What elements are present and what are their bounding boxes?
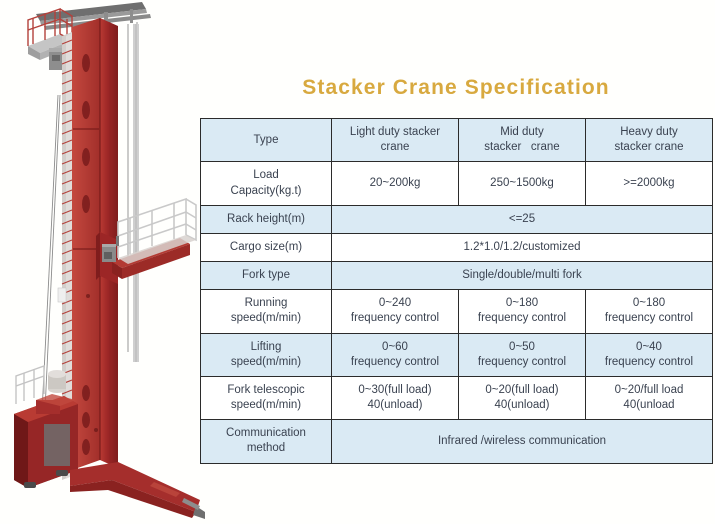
cell-line-1: 0~20/full load	[589, 383, 709, 398]
cell-lifting-speed-mid: 0~50 frequency control	[459, 333, 586, 376]
cell-load-capacity-light: 20~200kg	[332, 162, 459, 205]
cell-rack-height-value: <=25	[332, 205, 713, 233]
table-row-fork-telescopic-speed: Fork telescopic speed(m/min) 0~30(full l…	[201, 376, 713, 419]
cell-line-1: 0~20(full load)	[462, 383, 582, 398]
specification-table-container: Type Light duty stacker crane Mid duty s…	[200, 118, 712, 464]
table-row-header: Type Light duty stacker crane Mid duty s…	[201, 119, 713, 162]
cell-line-2: crane	[335, 140, 455, 155]
cell-line-1: Running	[204, 296, 328, 311]
cell-line-2: stacker crane	[462, 140, 582, 155]
cell-line-1: 0~180	[462, 296, 582, 311]
cell-rack-height-label: Rack height(m)	[201, 205, 332, 233]
cell-line-1: Communication	[204, 426, 328, 441]
cell-line-2: frequency control	[589, 355, 709, 370]
cell-fork-type-label: Fork type	[201, 262, 332, 290]
table-row-cargo-size: Cargo size(m) 1.2*1.0/1.2/customized	[201, 233, 713, 261]
cell-line-1: 0~30(full load)	[335, 383, 455, 398]
cell-line-1: 0~180	[589, 296, 709, 311]
cell-heavy-duty-header: Heavy duty stacker crane	[586, 119, 713, 162]
cell-communication-value: Infrared /wireless communication	[332, 420, 713, 463]
table-row-rack-height: Rack height(m) <=25	[201, 205, 713, 233]
cell-fork-telescopic-label: Fork telescopic speed(m/min)	[201, 376, 332, 419]
cell-line-2: speed(m/min)	[204, 398, 328, 413]
cell-line-2: 40(unload)	[462, 398, 582, 413]
cell-running-speed-heavy: 0~180 frequency control	[586, 290, 713, 333]
cell-line-2: Capacity(kg.t)	[204, 184, 328, 199]
cell-line-2: frequency control	[335, 355, 455, 370]
cell-line-1: 0~240	[335, 296, 455, 311]
cell-line-2: method	[204, 441, 328, 456]
cell-running-speed-label: Running speed(m/min)	[201, 290, 332, 333]
cell-lifting-speed-heavy: 0~40 frequency control	[586, 333, 713, 376]
cell-load-capacity-heavy: >=2000kg	[586, 162, 713, 205]
cell-line-2: speed(m/min)	[204, 355, 328, 370]
cell-fork-type-value: Single/double/multi fork	[332, 262, 713, 290]
cell-line-1: Fork telescopic	[204, 383, 328, 398]
cell-line-1: 0~40	[589, 340, 709, 355]
page-title: Stacker Crane Specification	[200, 76, 712, 100]
cell-lifting-speed-label: Lifting speed(m/min)	[201, 333, 332, 376]
cell-fork-telescopic-heavy: 0~20/full load 40(unload	[586, 376, 713, 419]
cell-cargo-size-value: 1.2*1.0/1.2/customized	[332, 233, 713, 261]
cell-lifting-speed-light: 0~60 frequency control	[332, 333, 459, 376]
cell-line-1: Heavy duty	[589, 125, 709, 140]
cell-load-capacity-label: Load Capacity(kg.t)	[201, 162, 332, 205]
specification-table: Type Light duty stacker crane Mid duty s…	[200, 118, 713, 464]
cell-line-1: 0~50	[462, 340, 582, 355]
cell-line-1: Mid duty	[462, 125, 582, 140]
specification-table-body: Type Light duty stacker crane Mid duty s…	[201, 119, 713, 464]
cell-line-2: 40(unload)	[335, 398, 455, 413]
cell-running-speed-light: 0~240 frequency control	[332, 290, 459, 333]
cell-line-1: Light duty stacker	[335, 125, 455, 140]
cell-line-2: speed(m/min)	[204, 311, 328, 326]
cell-line-1: Load	[204, 168, 328, 183]
table-row-fork-type: Fork type Single/double/multi fork	[201, 262, 713, 290]
table-row-load-capacity: Load Capacity(kg.t) 20~200kg 250~1500kg …	[201, 162, 713, 205]
cell-line-2: frequency control	[589, 311, 709, 326]
mast-rear-post	[133, 24, 139, 362]
cell-mid-duty-header: Mid duty stacker crane	[459, 119, 586, 162]
cell-line-1: 0~60	[335, 340, 455, 355]
cell-fork-telescopic-mid: 0~20(full load) 40(unload)	[459, 376, 586, 419]
spec-sheet-page: Stacker Crane Specification Type Light d…	[0, 0, 715, 524]
table-row-lifting-speed: Lifting speed(m/min) 0~60 frequency cont…	[201, 333, 713, 376]
stacker-crane-illustration	[0, 0, 205, 524]
cell-line-1: Type	[204, 133, 328, 148]
table-row-running-speed: Running speed(m/min) 0~240 frequency con…	[201, 290, 713, 333]
cell-load-capacity-mid: 250~1500kg	[459, 162, 586, 205]
cell-running-speed-mid: 0~180 frequency control	[459, 290, 586, 333]
cell-line-2: 40(unload	[589, 398, 709, 413]
cell-fork-telescopic-light: 0~30(full load) 40(unload)	[332, 376, 459, 419]
cell-line-2: frequency control	[462, 355, 582, 370]
cell-type-header: Type	[201, 119, 332, 162]
cell-line-2: frequency control	[335, 311, 455, 326]
cell-line-2: stacker crane	[589, 140, 709, 155]
cell-line-1: Lifting	[204, 340, 328, 355]
table-row-communication-method: Communication method Infrared /wireless …	[201, 420, 713, 463]
cell-communication-label: Communication method	[201, 420, 332, 463]
stacker-crane-image	[0, 0, 205, 524]
cell-cargo-size-label: Cargo size(m)	[201, 233, 332, 261]
cell-light-duty-header: Light duty stacker crane	[332, 119, 459, 162]
cell-line-2: frequency control	[462, 311, 582, 326]
